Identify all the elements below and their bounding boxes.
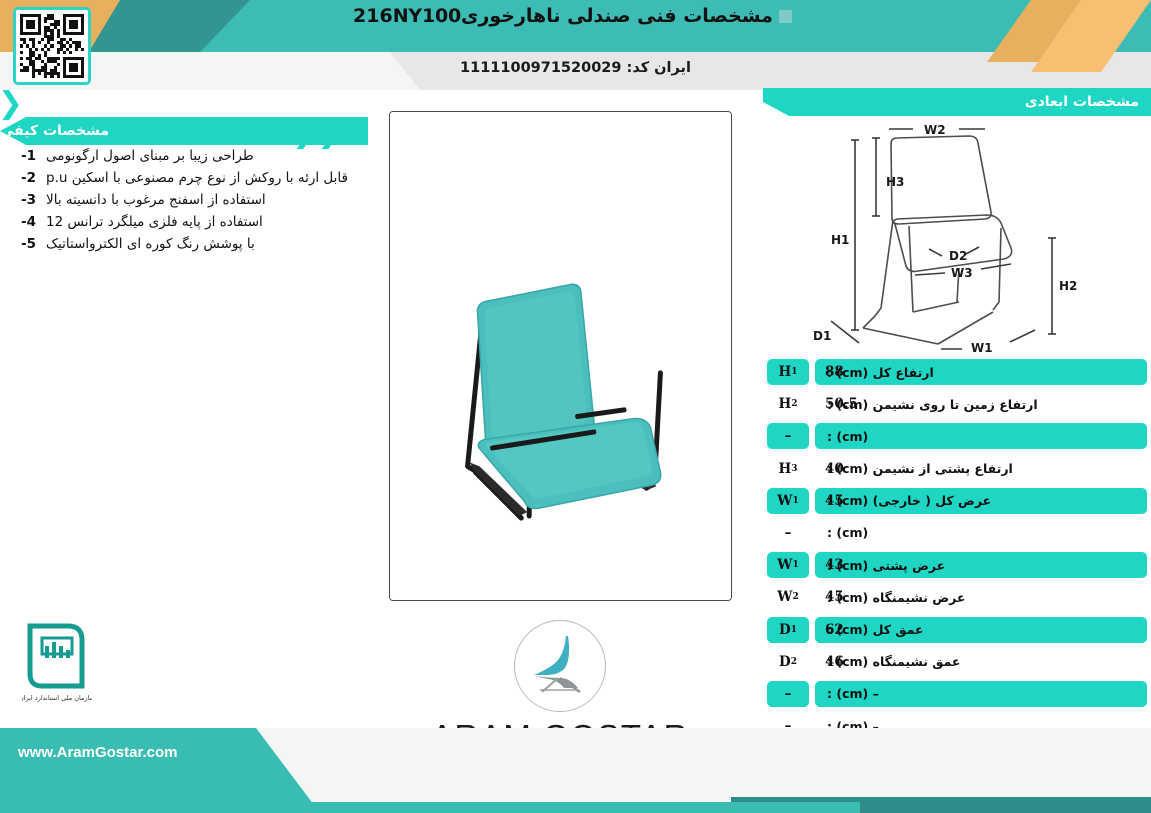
qr-code-icon[interactable] xyxy=(13,7,91,85)
quality-spec-text: با پوشش رنگ کوره ای الکترواستاتیک xyxy=(46,236,255,252)
dimension-value xyxy=(763,520,883,546)
dimension-row: (cm) :– xyxy=(763,517,1151,549)
dimension-value: 43 xyxy=(763,552,883,578)
dimension-value: 40 xyxy=(763,456,883,482)
page-title: مشخصات فنی صندلی ناهارخوری216NY100 xyxy=(0,5,1151,27)
isiri-standard-logo: سازمان ملی استاندارد ایران xyxy=(22,618,92,708)
quality-spec-text: استفاده از پایه فلزی میلگرد ترانس 12 xyxy=(46,214,263,230)
dimension-value: 88 xyxy=(763,359,883,385)
chevron-left-icon-quality: ❮❮ xyxy=(292,118,342,148)
quality-spec-text: استفاده از اسفنج مرغوب با دانسیته بالا xyxy=(46,192,266,208)
chair-dimension-drawing: W2 H3 H1 H2 W1 D1 D2 W3 xyxy=(763,116,1151,354)
chevron-left-icon-dimensional: ❮❮ xyxy=(0,89,23,119)
title-square-bullet xyxy=(779,10,792,23)
iran-code: ایران کد: 1111100971520029 xyxy=(0,60,1151,76)
dimension-row: عرض پشتی (cm) :W143 xyxy=(763,549,1151,581)
dimension-value: 50.5 xyxy=(763,391,883,417)
chair-photo-illustration xyxy=(390,112,731,600)
drawing-label-d2: D2 xyxy=(949,249,967,263)
website-link[interactable]: www.AramGostar.com xyxy=(18,744,178,761)
isiri-logo-icon: سازمان ملی استاندارد ایران xyxy=(22,618,92,708)
drawing-label-h3: H3 xyxy=(886,175,904,189)
dimension-row: ارتفاع کل (cm) :H188 xyxy=(763,356,1151,388)
drawing-label-h2: H2 xyxy=(1059,279,1077,293)
dimension-row: ارتفاع پشتی از نشیمن (cm) :H340 xyxy=(763,453,1151,485)
product-photo xyxy=(389,111,732,601)
isiri-caption: سازمان ملی استاندارد ایران xyxy=(22,694,92,702)
dimension-row: عمق کل (cm) :D162 xyxy=(763,614,1151,646)
drawing-label-h1: H1 xyxy=(831,233,849,247)
dimension-row: (cm) :– xyxy=(763,420,1151,452)
quality-spec-item: طراحی زیبا بر مبنای اصول ارگونومی-1 xyxy=(18,148,350,164)
quality-spec-number: -2 xyxy=(18,170,36,186)
dimension-value: 62 xyxy=(763,617,883,643)
section-header-quality-label: مشخصات کیفی xyxy=(0,123,109,139)
quality-spec-item: با پوشش رنگ کوره ای الکترواستاتیک-5 xyxy=(18,236,350,252)
quality-spec-list: طراحی زیبا بر مبنای اصول ارگونومی-1قابل … xyxy=(0,148,368,258)
dimension-value: 46 xyxy=(763,649,883,675)
quality-spec-item: استفاده از اسفنج مرغوب با دانسیته بالا-3 xyxy=(18,192,350,208)
section-header-dimensional: مشخصات ابعادی xyxy=(763,88,1151,116)
dimension-row: ارتفاع زمین تا روی نشیمن (cm) :H250.5 xyxy=(763,388,1151,420)
section-header-dimensional-label: مشخصات ابعادی xyxy=(1025,94,1139,110)
drawing-label-w3: W3 xyxy=(951,266,973,280)
dimension-row: عرض کل ( خارجی) (cm) :W145 xyxy=(763,485,1151,517)
drawing-label-d1: D1 xyxy=(813,329,831,343)
dimension-value: 45 xyxy=(763,488,883,514)
drawing-label-w1: W1 xyxy=(971,341,993,354)
quality-spec-text: قابل ارئه با روکش از نوع چرم مصنوعی با ا… xyxy=(46,170,348,186)
quality-spec-item: استفاده از پایه فلزی میلگرد ترانس 12-4 xyxy=(18,214,350,230)
logo-circle-icon xyxy=(514,620,606,712)
dimension-row: عمق نشیمنگاه (cm) :D246 xyxy=(763,646,1151,678)
qr-code-matrix xyxy=(20,14,84,78)
quality-spec-number: -5 xyxy=(18,236,36,252)
dimension-value xyxy=(763,423,883,449)
dimension-row: – (cm) :– xyxy=(763,678,1151,710)
dimension-value: 45 xyxy=(763,584,883,610)
drawing-label-w2: W2 xyxy=(924,123,946,137)
quality-spec-text: طراحی زیبا بر مبنای اصول ارگونومی xyxy=(46,148,254,164)
quality-spec-item: قابل ارئه با روکش از نوع چرم مصنوعی با ا… xyxy=(18,170,350,186)
dimension-row: عرض نشیمنگاه (cm) :W245 xyxy=(763,581,1151,613)
technical-drawing: W2 H3 H1 H2 W1 D1 D2 W3 xyxy=(763,116,1151,354)
quality-spec-number: -4 xyxy=(18,214,36,230)
footer-mid-teal-strip xyxy=(300,802,860,813)
dimension-value xyxy=(763,681,883,707)
spec-sheet-page: مشخصات فنی صندلی ناهارخوری216NY100 ایران… xyxy=(0,0,1151,813)
quality-spec-number: -3 xyxy=(18,192,36,208)
chair-logo-mark xyxy=(524,630,596,702)
page-title-text: مشخصات فنی صندلی ناهارخوری216NY100 xyxy=(353,5,773,27)
quality-spec-number: -1 xyxy=(18,148,36,164)
